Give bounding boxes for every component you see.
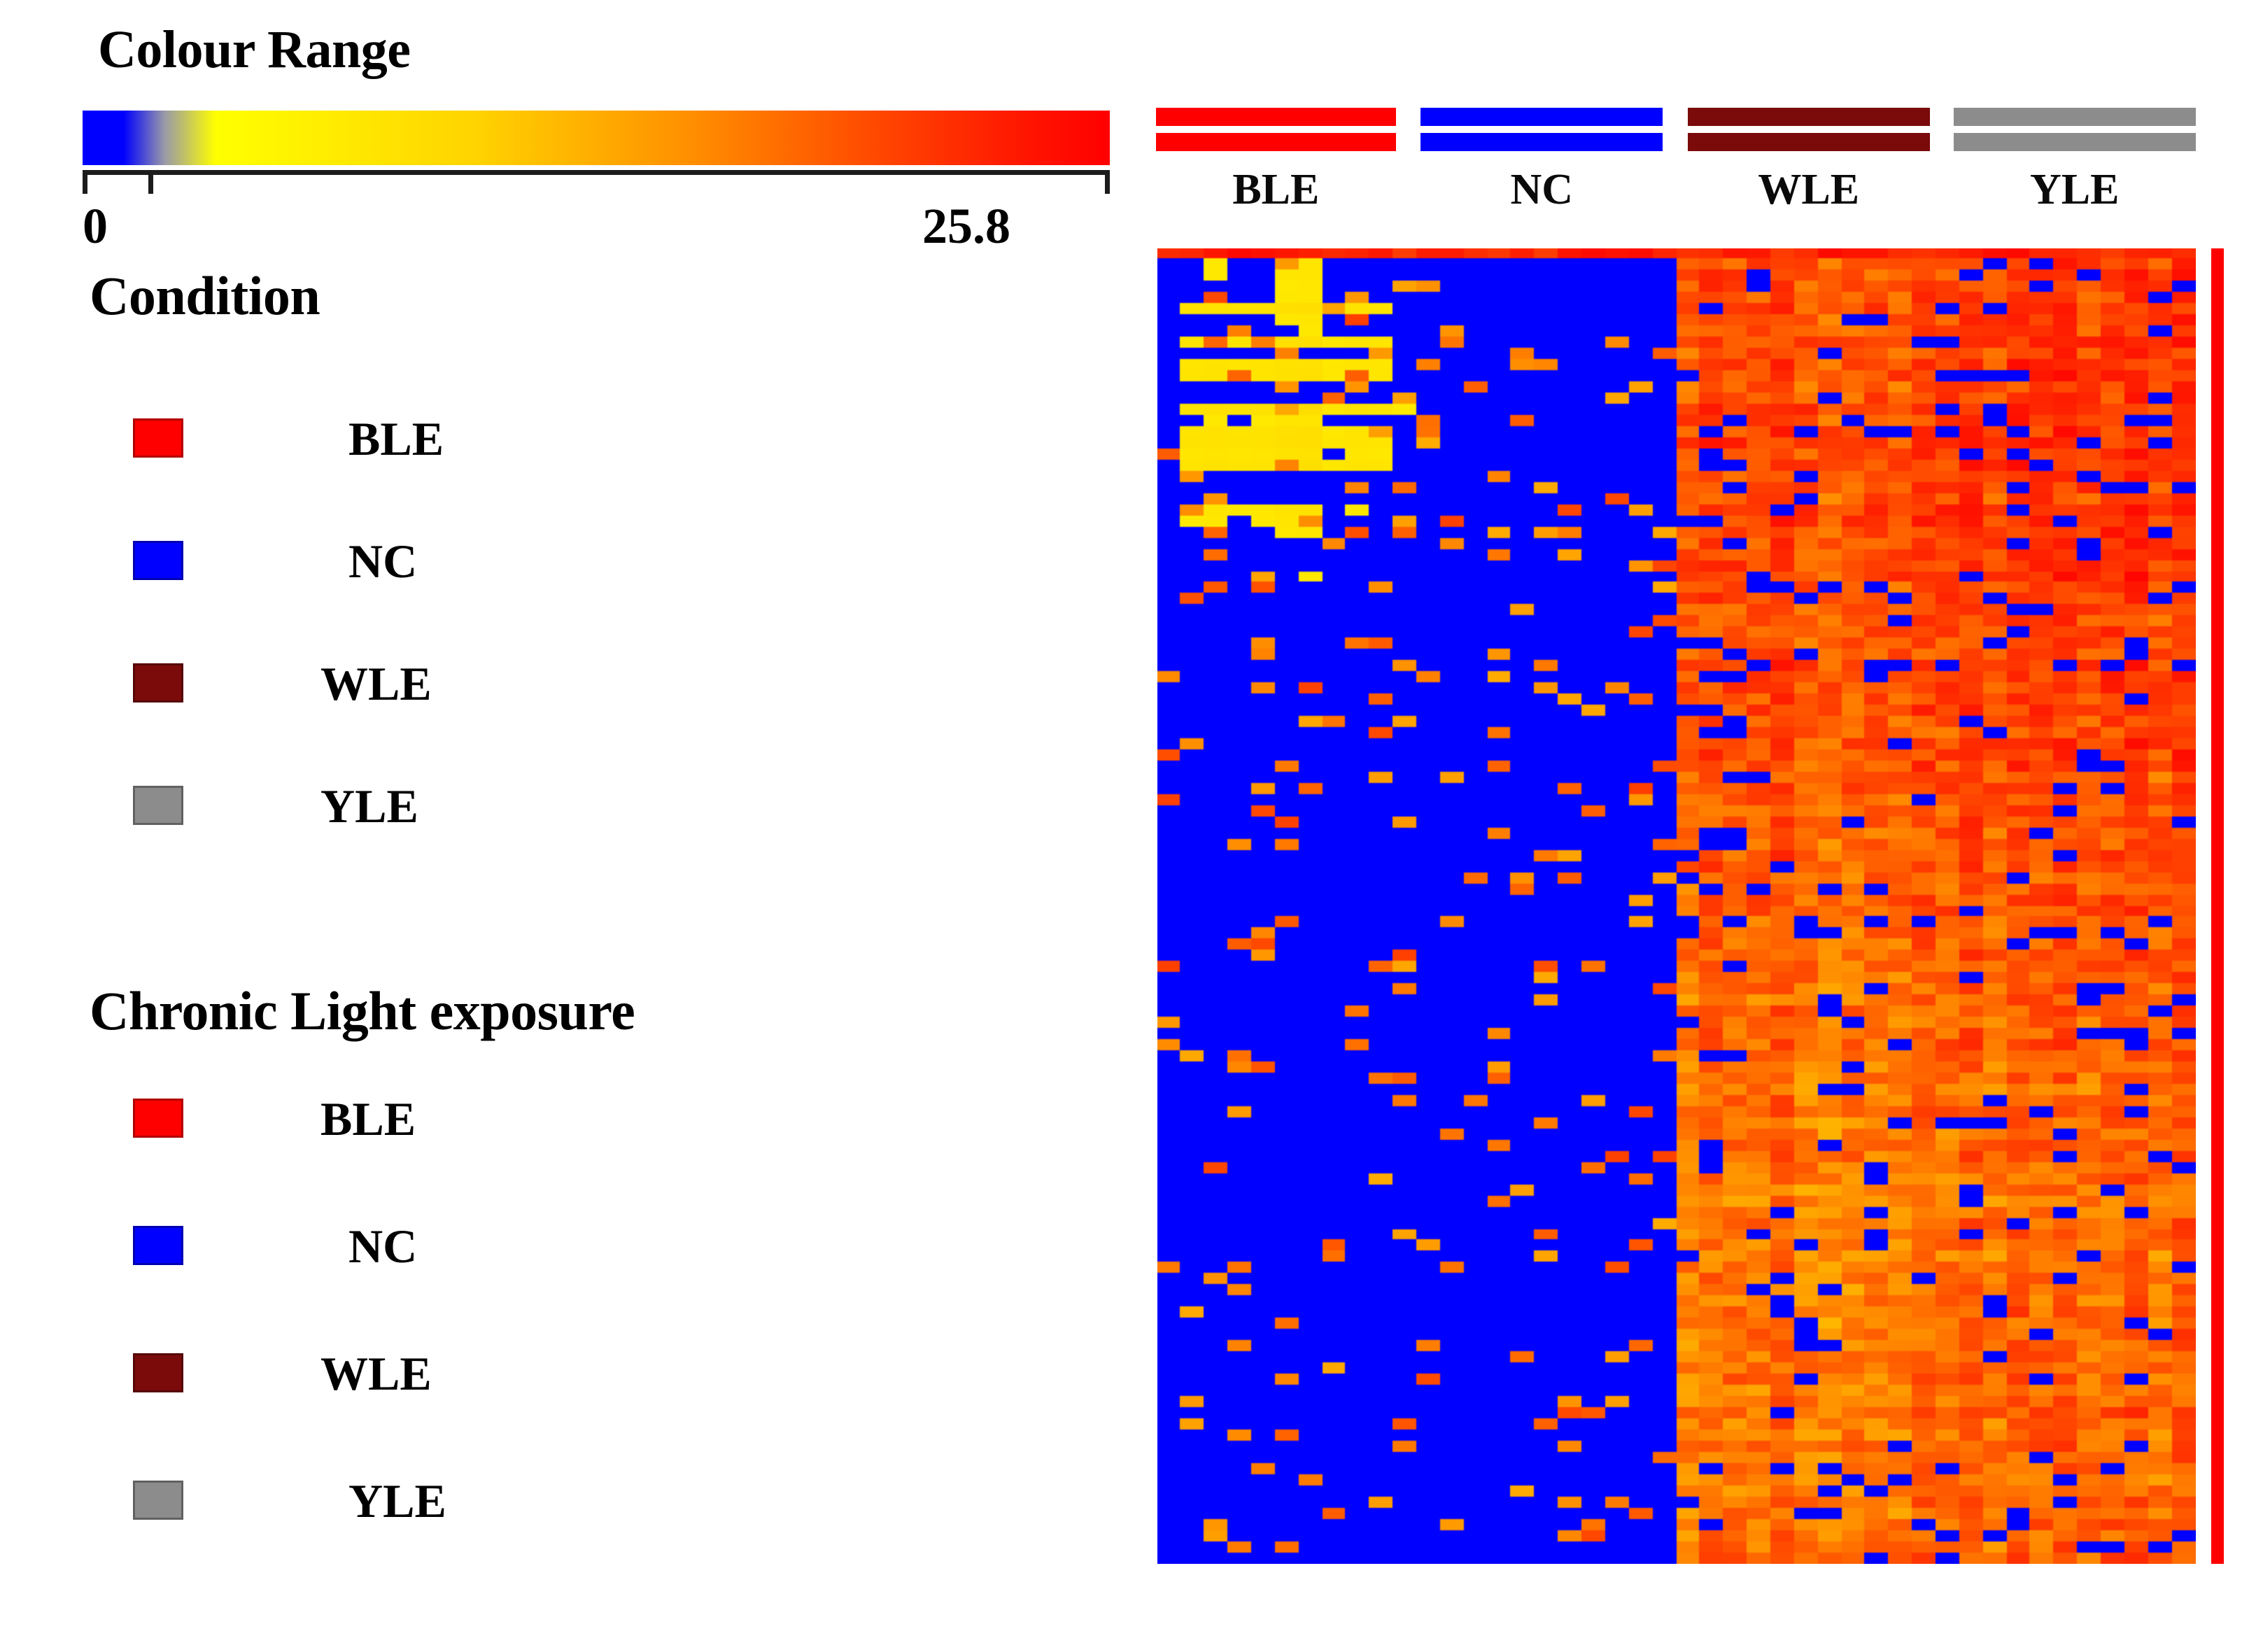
legend-swatch-yle [133, 786, 183, 825]
legend-swatch-yle [133, 1481, 183, 1520]
legend-swatch-ble [133, 1099, 183, 1138]
legend-item-chronic-light-exposure-nc: NC [90, 1219, 593, 1286]
heatmap-region: BLENCWLEYLE [1156, 105, 2227, 1637]
column-annotation-stripe [1420, 133, 1663, 151]
colour-range-tick-max [1105, 170, 1110, 194]
colour-range-tick-min [83, 170, 87, 194]
row-annotation-bar [2211, 248, 2224, 1564]
colour-range-min-label: 0 [83, 197, 108, 255]
column-annotation-yle [1954, 105, 2196, 154]
column-annotation-gap [1954, 126, 2196, 133]
column-annotation-wle [1688, 105, 1930, 154]
legend-item-condition-nc: NC [90, 534, 593, 601]
column-group-label-nc: NC [1420, 165, 1663, 215]
heatmap-matrix [1157, 248, 2196, 1564]
legend-swatch-nc [133, 1226, 183, 1265]
column-group-label-wle: WLE [1688, 165, 1930, 215]
legend-label-nc: NC [348, 1219, 417, 1274]
column-annotation-stripe [1420, 108, 1663, 126]
column-annotation-nc [1420, 105, 1663, 154]
column-annotation-gap [1156, 126, 1396, 133]
legend-label-ble: BLE [320, 1092, 416, 1147]
legend-label-ble: BLE [348, 411, 444, 467]
colour-range-axis-line [83, 170, 1110, 175]
column-annotation-gap [1420, 126, 1663, 133]
colour-range-tick-second [148, 170, 153, 194]
legend-item-condition-yle: YLE [90, 779, 593, 846]
column-annotation-stripe [1954, 108, 2196, 126]
colour-range-gradient-bar [83, 111, 1110, 165]
legend-item-condition-wle: WLE [90, 656, 593, 723]
column-annotation-gap [1688, 126, 1930, 133]
colour-range-axis [83, 170, 1110, 194]
chronic-light-exposure-legend-title: Chronic Light exposure [90, 980, 635, 1043]
column-annotation-stripe [1156, 108, 1396, 126]
column-annotation-stripe [1688, 108, 1930, 126]
legend-label-yle: YLE [348, 1474, 446, 1529]
legend-label-yle: YLE [320, 779, 418, 834]
legend-swatch-wle [133, 663, 183, 703]
column-annotation-stripe [1688, 133, 1930, 151]
legend-swatch-ble [133, 418, 183, 458]
legend-label-wle: WLE [320, 1346, 432, 1402]
legend-item-condition-ble: BLE [90, 411, 593, 479]
column-annotation-ble [1156, 105, 1396, 154]
legend-label-nc: NC [348, 534, 417, 589]
column-annotation-stripe [1954, 133, 2196, 151]
colour-range-title: Colour Range [98, 20, 411, 80]
legend-swatch-nc [133, 541, 183, 580]
legend-swatch-wle [133, 1353, 183, 1392]
colour-range-tick-labels: 0 25.8 [83, 197, 1132, 262]
column-group-labels: BLENCWLEYLE [1156, 165, 2199, 235]
column-annotation-bars [1156, 105, 2199, 154]
legend-label-wle: WLE [320, 656, 432, 712]
column-group-label-yle: YLE [1954, 165, 2196, 215]
colour-range-max-label: 25.8 [922, 197, 1010, 255]
legend-item-chronic-light-exposure-wle: WLE [90, 1346, 593, 1413]
condition-legend-title: Condition [90, 264, 320, 327]
legend-item-chronic-light-exposure-ble: BLE [90, 1092, 593, 1159]
column-annotation-stripe [1156, 133, 1396, 151]
legend-item-chronic-light-exposure-yle: YLE [90, 1474, 593, 1541]
column-group-label-ble: BLE [1156, 165, 1396, 215]
heatmap-canvas [1157, 248, 2196, 1564]
